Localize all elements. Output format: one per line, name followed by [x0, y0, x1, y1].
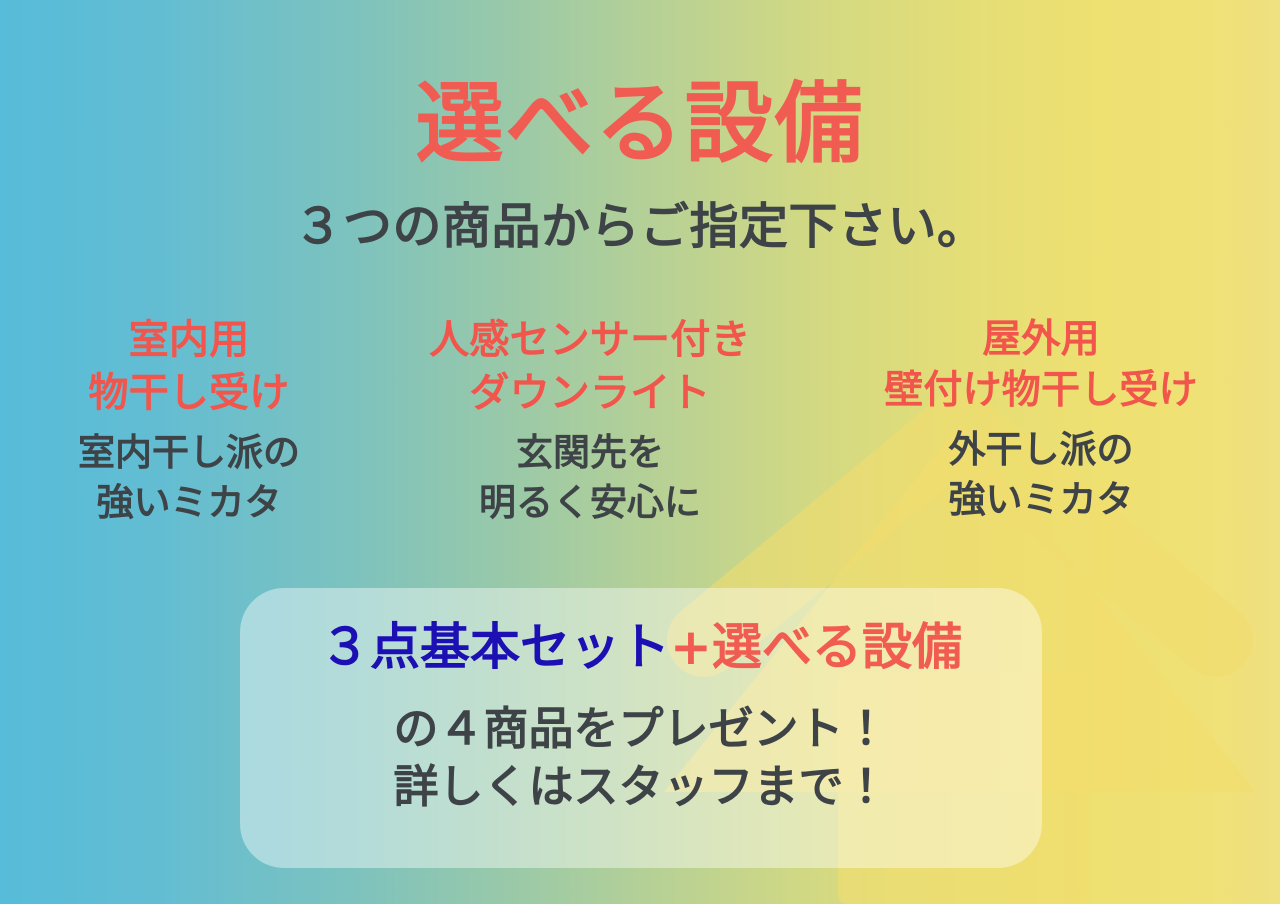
option-description: 外干し派の 強いミカタ: [826, 425, 1256, 526]
option-title-line-1: 室内用: [24, 314, 354, 367]
option-desc-line-2: 強いミカタ: [24, 478, 354, 528]
page-subtitle: ３つの商品からご指定下さい。: [0, 200, 1280, 254]
option-desc-line-1: 外干し派の: [826, 425, 1256, 475]
option-card-indoor-laundry-hanger: 室内用 物干し受け 室内干し派の 強いミカタ: [24, 314, 354, 528]
option-card-motion-sensor-downlight: 人感センサー付き ダウンライト 玄関先を 明るく安心に: [400, 314, 780, 528]
option-title-line-1: 人感センサー付き: [400, 314, 780, 367]
option-columns: 室内用 物干し受け 室内干し派の 強いミカタ 人感センサー付き ダウンライト 玄…: [24, 314, 1256, 528]
page-title: 選べる設備: [0, 78, 1280, 170]
option-description: 室内干し派の 強いミカタ: [24, 428, 354, 529]
option-desc-line-1: 玄関先を: [400, 428, 780, 478]
option-title-line-2: 壁付け物干し受け: [826, 365, 1256, 416]
option-title: 人感センサー付き ダウンライト: [400, 314, 780, 420]
promo-poster: 選べる設備 ３つの商品からご指定下さい。 室内用 物干し受け 室内干し派の 強い…: [0, 0, 1280, 904]
option-desc-line-2: 強いミカタ: [826, 475, 1256, 525]
promo-text-line-2: の４商品をプレゼント！: [240, 700, 1042, 758]
promo-headline: ３点基本セット+選べる設備: [240, 620, 1042, 675]
option-title: 室内用 物干し受け: [24, 314, 354, 420]
option-card-outdoor-wall-laundry-hanger: 屋外用 壁付け物干し受け 外干し派の 強いミカタ: [826, 314, 1256, 526]
promo-headline-plus: +: [670, 618, 712, 676]
promo-text-line-3: 詳しくはスタッフまで！: [240, 758, 1042, 816]
option-desc-line-2: 明るく安心に: [400, 478, 780, 528]
option-description: 玄関先を 明るく安心に: [400, 428, 780, 529]
option-title-line-2: ダウンライト: [400, 367, 780, 420]
option-desc-line-1: 室内干し派の: [24, 428, 354, 478]
promo-headline-equipment: 選べる設備: [712, 618, 962, 676]
option-title: 屋外用 壁付け物干し受け: [826, 314, 1256, 417]
option-title-line-2: 物干し受け: [24, 367, 354, 420]
option-title-line-1: 屋外用: [826, 314, 1256, 365]
promo-headline-set: ３点基本セット: [320, 618, 670, 676]
